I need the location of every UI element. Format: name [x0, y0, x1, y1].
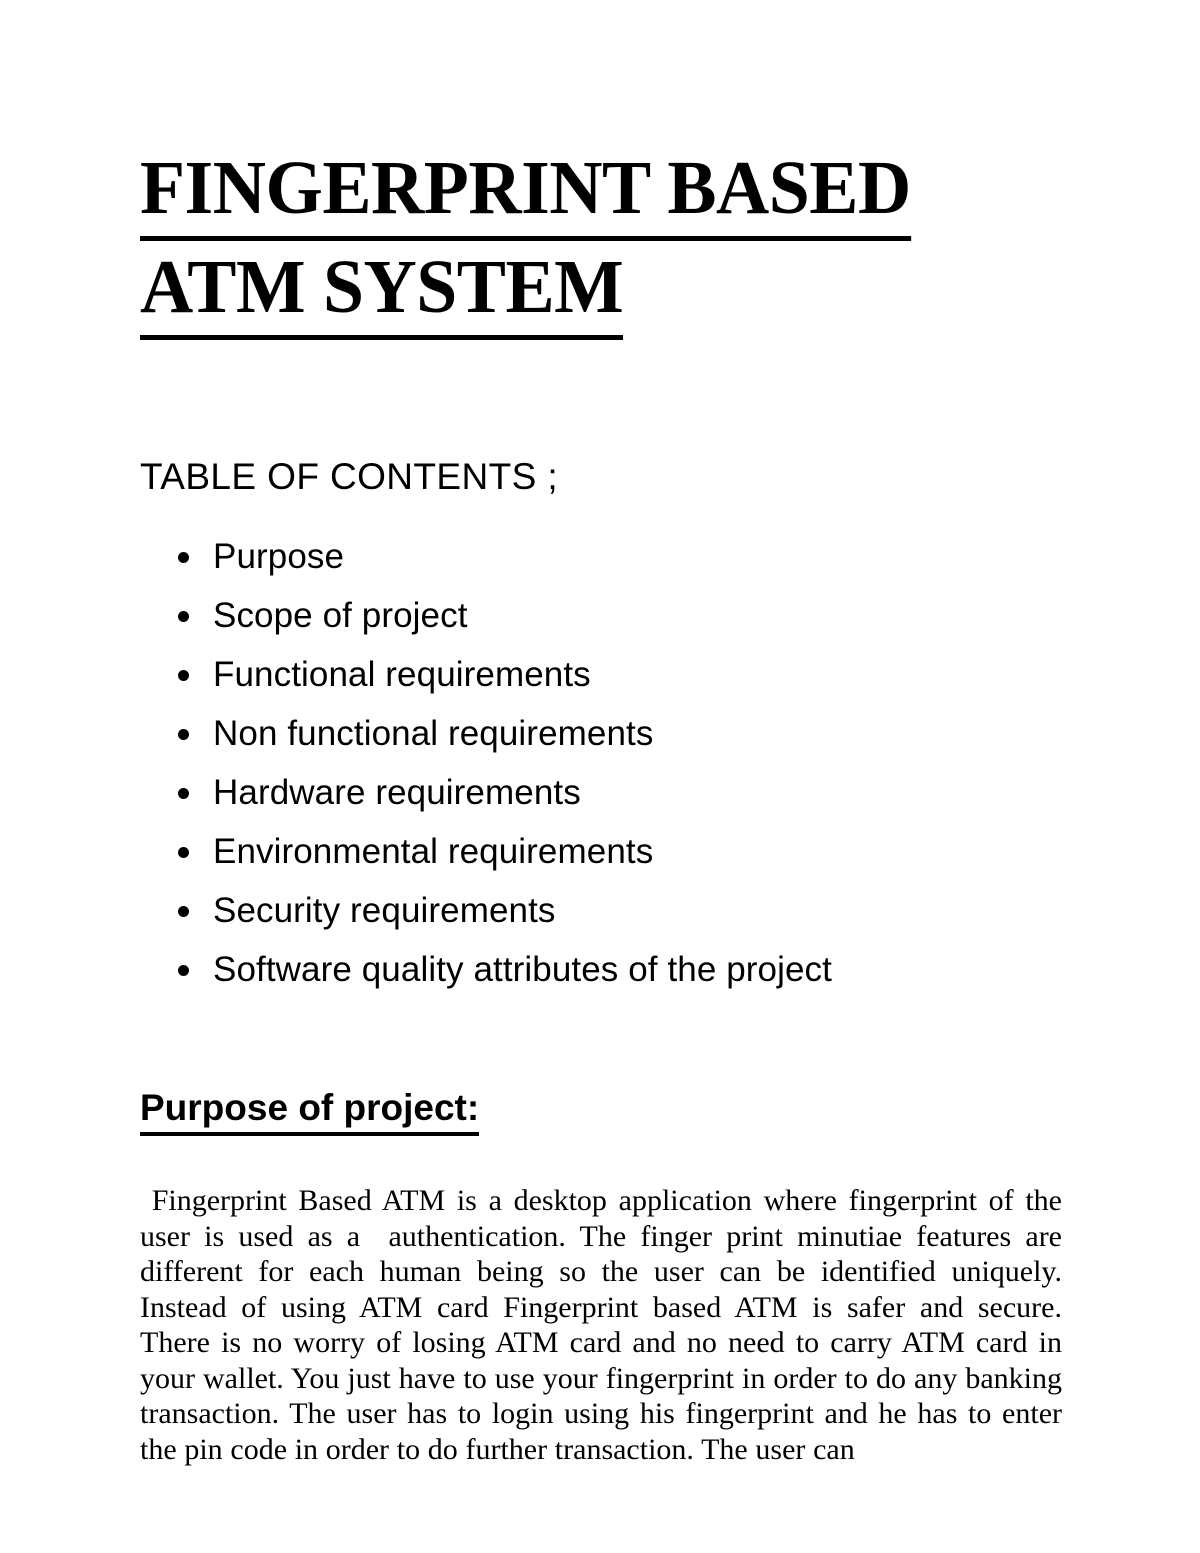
- bullet-icon: [178, 552, 189, 563]
- list-item: Scope of project: [178, 586, 832, 645]
- list-item-label: Security requirements: [213, 891, 556, 930]
- bullet-icon: [178, 847, 189, 858]
- document-title-line-1-text: FINGERPRINT BASED: [140, 142, 911, 241]
- section-heading-purpose-text: Purpose of project:: [140, 1085, 479, 1136]
- document-title-line-2-text: ATM SYSTEM: [140, 241, 623, 340]
- list-item: Security requirements: [178, 881, 832, 940]
- section-body-purpose: Fingerprint Based ATM is a desktop appli…: [140, 1183, 1062, 1467]
- list-item: Hardware requirements: [178, 763, 832, 822]
- list-item-label: Purpose: [213, 537, 344, 576]
- bullet-icon: [178, 906, 189, 917]
- bullet-icon: [178, 729, 189, 740]
- section-heading-purpose: Purpose of project:: [140, 1085, 479, 1136]
- bullet-icon: [178, 788, 189, 799]
- list-item-label: Functional requirements: [213, 655, 591, 694]
- list-item-label: Scope of project: [213, 596, 468, 635]
- list-item: Software quality attributes of the proje…: [178, 940, 832, 999]
- document-page: FINGERPRINT BASED ATM SYSTEM TABLE OF CO…: [0, 0, 1200, 1553]
- list-item-label: Hardware requirements: [213, 773, 581, 812]
- list-item: Non functional requirements: [178, 704, 832, 763]
- list-item: Environmental requirements: [178, 822, 832, 881]
- document-title-line-1: FINGERPRINT BASED: [140, 142, 1080, 241]
- table-of-contents-heading: TABLE OF CONTENTS ;: [140, 455, 558, 499]
- bullet-icon: [178, 670, 189, 681]
- document-title-line-2: ATM SYSTEM: [140, 241, 1080, 340]
- list-item-label: Environmental requirements: [213, 832, 653, 871]
- list-item-label: Software quality attributes of the proje…: [213, 950, 832, 989]
- list-item: Functional requirements: [178, 645, 832, 704]
- list-item-label: Non functional requirements: [213, 714, 653, 753]
- bullet-icon: [178, 611, 189, 622]
- table-of-contents-list: Purpose Scope of project Functional requ…: [178, 527, 832, 999]
- document-title: FINGERPRINT BASED ATM SYSTEM: [140, 142, 1080, 340]
- bullet-icon: [178, 965, 189, 976]
- list-item: Purpose: [178, 527, 832, 586]
